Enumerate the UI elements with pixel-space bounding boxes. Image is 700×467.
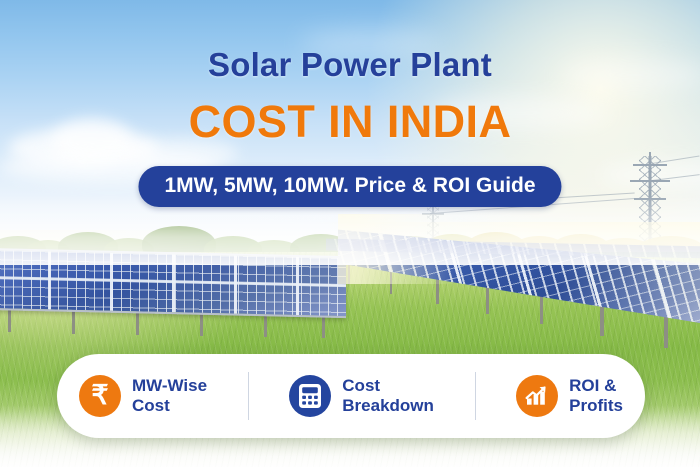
subtitle-badge: 1MW, 5MW, 10MW. Price & ROI Guide [138,166,561,207]
feature-divider [248,372,249,420]
growth-chart-icon [516,375,558,417]
headline-line-2: COST IN INDIA [0,96,700,148]
feature-card: ₹ MW-Wise Cost Cost Breakdown [57,354,645,438]
feature-divider [475,372,476,420]
feature-mw-wise-cost[interactable]: ₹ MW-Wise Cost [65,375,221,417]
feature-cost-breakdown[interactable]: Cost Breakdown [275,375,448,417]
feature-label: Cost Breakdown [342,376,434,415]
feature-roi-profits[interactable]: ROI & Profits [502,375,637,417]
rupee-icon: ₹ [79,375,121,417]
headline-line-1: Solar Power Plant [0,46,700,84]
solar-cost-banner: Solar Power Plant COST IN INDIA 1MW, 5MW… [0,0,700,467]
feature-label: ROI & Profits [569,376,623,415]
rupee-glyph: ₹ [91,382,108,409]
calculator-icon [289,375,331,417]
feature-label: MW-Wise Cost [132,376,207,415]
